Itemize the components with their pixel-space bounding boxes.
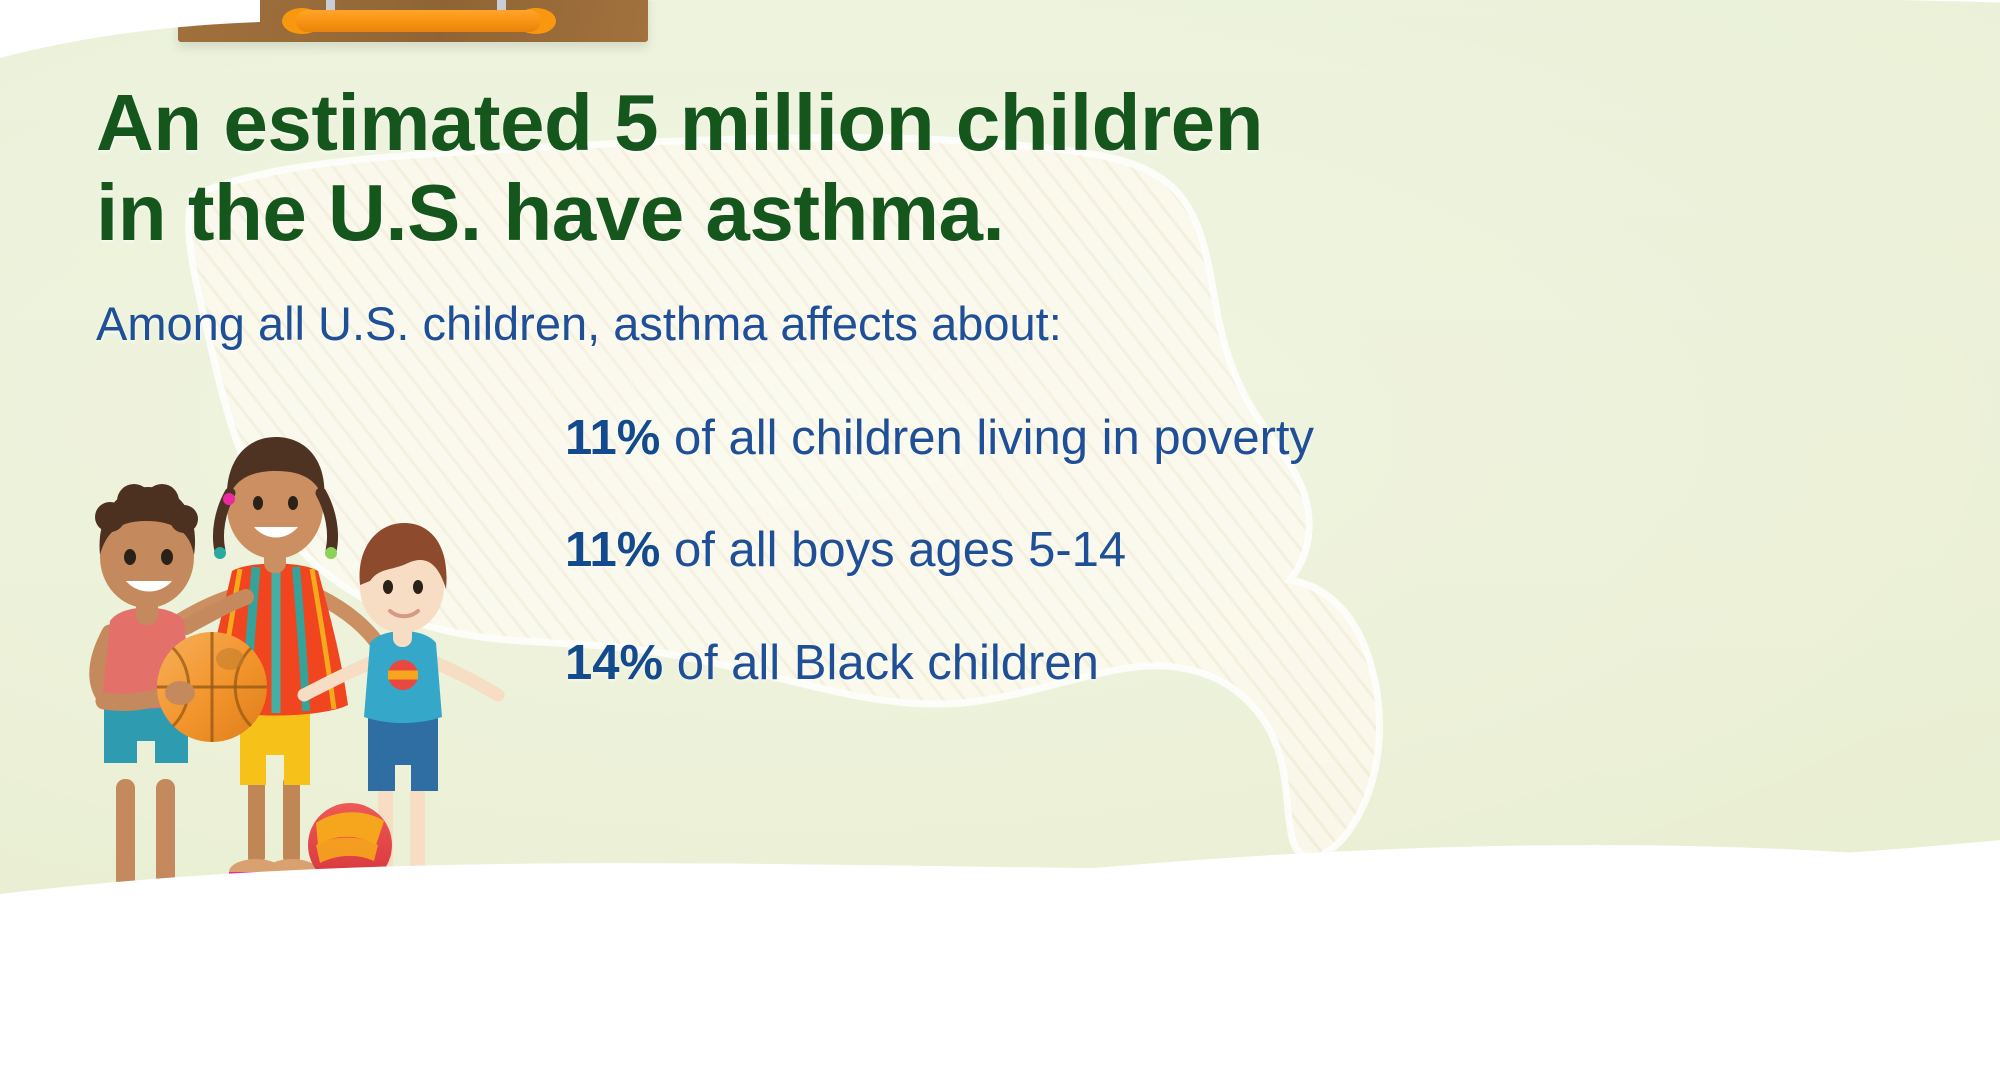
subtitle: Among all U.S. children, asthma affects … — [96, 296, 1596, 352]
page-title: An estimated 5 million children in the U… — [96, 78, 1516, 257]
statistics-list: 11% of all children living in poverty 11… — [565, 410, 1985, 747]
stat-percent-3: 14% — [565, 636, 663, 690]
stat-item-children-in-poverty: 11% of all children living in poverty — [565, 410, 1985, 466]
stat-label-3: of all Black children — [663, 636, 1099, 690]
stat-percent-1: 11% — [565, 411, 660, 465]
stat-item-boys-5-14: 11% of all boys ages 5-14 — [565, 522, 1985, 578]
rim-bar — [296, 10, 541, 32]
infographic-canvas: An estimated 5 million children in the U… — [0, 0, 2000, 1084]
stat-item-black-children: 14% of all Black children — [565, 635, 1985, 691]
headline-line-2: in the U.S. have asthma. — [96, 168, 1516, 258]
stat-label-1: of all children living in poverty — [660, 411, 1314, 465]
figure-boy-with-basketball — [86, 484, 267, 918]
stat-percent-2: 11% — [565, 523, 660, 577]
stat-label-2: of all boys ages 5-14 — [660, 523, 1126, 577]
headline-line-1: An estimated 5 million children — [96, 78, 1263, 167]
